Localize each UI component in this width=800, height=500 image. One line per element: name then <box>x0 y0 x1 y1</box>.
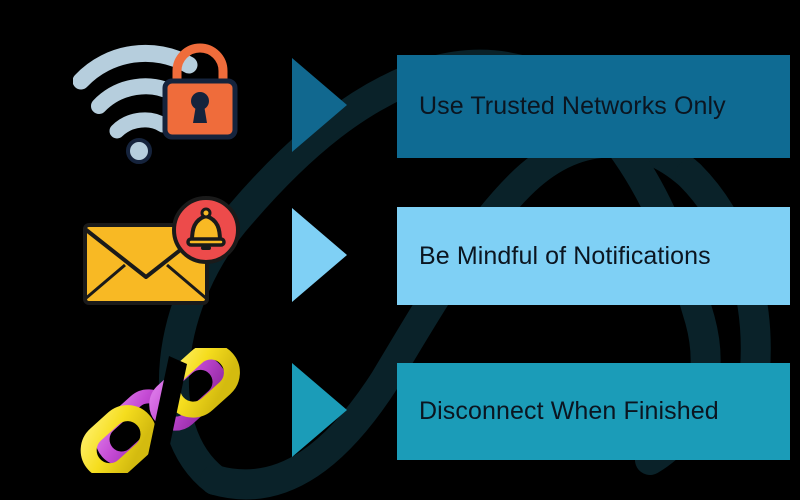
tip-banner-2[interactable]: Be Mindful of Notifications <box>397 207 790 305</box>
wifi-dot <box>128 140 150 162</box>
arrow-cell-1 <box>285 40 360 170</box>
tip-label-3: Disconnect When Finished <box>419 399 719 424</box>
tip-row-1: Use Trusted Networks Only <box>0 40 800 170</box>
wifi-lock-icon-cell <box>60 40 260 170</box>
wifi-wave-middle <box>99 86 173 106</box>
play-triangle-icon <box>285 360 347 460</box>
broken-chain-link-icon <box>73 348 248 473</box>
arrow-cell-3 <box>285 345 360 475</box>
triangle-shape <box>292 363 347 457</box>
wifi-wave-inner <box>117 119 163 130</box>
tip-label-2: Be Mindful of Notifications <box>419 244 711 269</box>
envelope-notification-icon-cell <box>60 190 260 320</box>
bell-base <box>188 239 224 245</box>
tip-banner-1[interactable]: Use Trusted Networks Only <box>397 55 790 158</box>
broken-chain-icon-cell <box>60 345 260 475</box>
triangle-shape <box>292 208 347 302</box>
notification-badge <box>174 198 238 262</box>
tip-label-1: Use Trusted Networks Only <box>419 94 726 119</box>
tip-banner-3[interactable]: Disconnect When Finished <box>397 363 790 460</box>
tip-row-3: Disconnect When Finished <box>0 345 800 475</box>
arrow-cell-2 <box>285 190 360 320</box>
triangle-shape <box>292 58 347 152</box>
tip-row-2: Be Mindful of Notifications <box>0 190 800 320</box>
envelope-notification-bell-icon <box>73 193 248 318</box>
chain-link-yellow-lower <box>80 404 157 473</box>
bell-top-knob <box>202 209 210 217</box>
play-triangle-icon <box>285 55 347 155</box>
play-triangle-icon <box>285 205 347 305</box>
infographic-canvas: Use Trusted Networks Only <box>0 0 800 500</box>
wifi-lock-icon <box>73 43 248 168</box>
padlock <box>165 48 235 137</box>
